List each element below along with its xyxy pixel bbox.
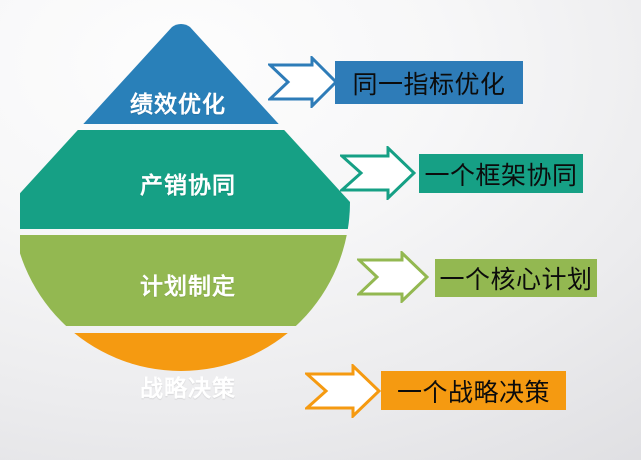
callout-box-collaboration: 一个框架协同 xyxy=(419,154,583,193)
callout-arrow-strategy xyxy=(305,364,381,423)
callout-text-performance: 同一指标优化 xyxy=(352,65,505,101)
callout-box-plan: 一个核心计划 xyxy=(435,259,597,297)
band-label-collaboration: 产销协同 xyxy=(140,166,236,200)
band-label-plan: 计划制定 xyxy=(140,267,236,301)
band-label-strategy: 战略决策 xyxy=(140,369,236,403)
callout-arrow-collaboration xyxy=(340,146,416,205)
slide-canvas: 绩效优化 产销协同 计划制定 战略决策 同一指标优化 一个框架协同 一个核心计划 xyxy=(0,0,641,460)
callout-arrow-performance xyxy=(268,56,338,113)
callout-text-plan: 一个核心计划 xyxy=(439,260,592,296)
callout-box-strategy: 一个战略决策 xyxy=(381,371,566,410)
callout-box-performance: 同一指标优化 xyxy=(335,61,523,104)
callout-text-strategy: 一个战略决策 xyxy=(397,373,550,409)
band-label-performance: 绩效优化 xyxy=(130,85,226,119)
callout-text-collaboration: 一个框架协同 xyxy=(424,156,577,192)
callout-arrow-plan xyxy=(357,251,429,308)
